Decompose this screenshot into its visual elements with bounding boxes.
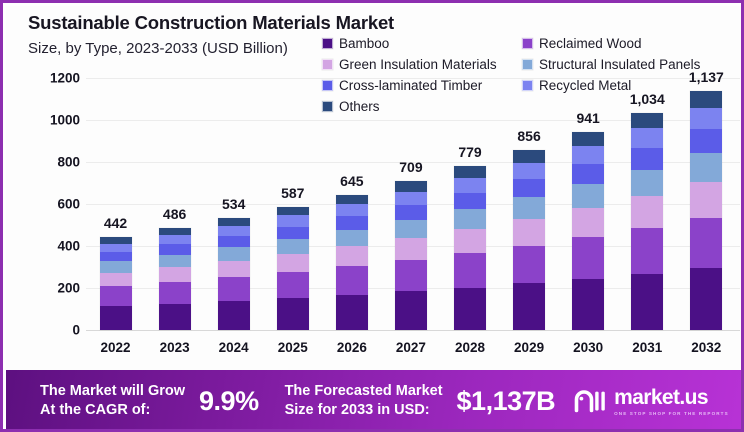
- bar-segment[interactable]: [572, 132, 604, 146]
- x-axis-tick-label: 2032: [679, 340, 733, 355]
- bar-segment[interactable]: [631, 196, 663, 229]
- bar-total-label: 587: [281, 185, 304, 201]
- bar-segment[interactable]: [277, 227, 309, 239]
- bar-stack[interactable]: [572, 132, 604, 330]
- bar-total-label: 941: [576, 110, 599, 126]
- bar-segment[interactable]: [454, 193, 486, 209]
- footer-banner: The Market will Grow At the CAGR of: 9.9…: [6, 370, 744, 432]
- y-axis-tick-label: 600: [28, 197, 80, 212]
- legend-item-label: Structural Insulated Panels: [539, 57, 700, 72]
- x-axis-tick-label: 2027: [384, 340, 438, 355]
- legend-item-green-insulation-materials[interactable]: Green Insulation Materials: [322, 57, 522, 72]
- legend-swatch-icon: [322, 38, 333, 49]
- bar-segment[interactable]: [159, 255, 191, 267]
- bar-group[interactable]: 1,137: [679, 78, 733, 330]
- bar-segment[interactable]: [277, 298, 309, 330]
- gridline: [86, 330, 740, 331]
- bar-group[interactable]: 486: [148, 78, 202, 330]
- bar-segment[interactable]: [631, 113, 663, 129]
- y-axis-tick-label: 200: [28, 281, 80, 296]
- logo-text-wrap: market.us ONE STOP SHOP FOR THE REPORTS: [614, 387, 729, 416]
- bar-segment[interactable]: [395, 291, 427, 330]
- bar-segment[interactable]: [159, 244, 191, 254]
- bar-segment[interactable]: [631, 170, 663, 196]
- cagr-label-block: The Market will Grow At the CAGR of:: [40, 382, 185, 419]
- bar-segment[interactable]: [631, 274, 663, 330]
- legend-item-label: Reclaimed Wood: [539, 36, 642, 51]
- bar-segment[interactable]: [513, 197, 545, 219]
- bar-segment[interactable]: [572, 237, 604, 279]
- bar-segment[interactable]: [395, 238, 427, 260]
- bar-segment[interactable]: [690, 129, 722, 153]
- x-axis-tick-label: 2028: [443, 340, 497, 355]
- bar-segment[interactable]: [336, 266, 368, 294]
- bar-segment[interactable]: [572, 208, 604, 238]
- bar-segment[interactable]: [454, 209, 486, 229]
- bar-group[interactable]: 534: [207, 78, 261, 330]
- legend-swatch-icon: [522, 38, 533, 49]
- bar-segment[interactable]: [159, 267, 191, 282]
- bar-stack[interactable]: [100, 237, 132, 330]
- bar-segment[interactable]: [100, 286, 132, 306]
- bar-segment[interactable]: [100, 306, 132, 330]
- bar-segment[interactable]: [218, 261, 250, 278]
- bar-segment[interactable]: [336, 295, 368, 330]
- bar-stack[interactable]: [454, 166, 486, 330]
- bar-segment[interactable]: [336, 195, 368, 204]
- bar-segment[interactable]: [572, 184, 604, 208]
- bar-segment[interactable]: [690, 91, 722, 108]
- logo-wordmark: market.us: [614, 387, 729, 408]
- legend-item-bamboo[interactable]: Bamboo: [322, 36, 522, 51]
- y-axis-tick-label: 0: [28, 323, 80, 338]
- x-axis-tick-label: 2024: [207, 340, 261, 355]
- bar-group[interactable]: 587: [266, 78, 320, 330]
- bar-segment[interactable]: [395, 260, 427, 291]
- bar-segment[interactable]: [454, 166, 486, 178]
- cagr-label-line1: The Market will Grow: [40, 382, 185, 401]
- bar-total-label: 534: [222, 196, 245, 212]
- bar-segment[interactable]: [218, 226, 250, 236]
- bar-series-container: 4424865345876457097798569411,0341,137: [86, 78, 736, 330]
- bar-stack[interactable]: [690, 91, 722, 330]
- bar-segment[interactable]: [336, 216, 368, 230]
- bar-segment[interactable]: [277, 239, 309, 254]
- bar-group[interactable]: 709: [384, 78, 438, 330]
- bar-segment[interactable]: [572, 146, 604, 164]
- bar-total-label: 486: [163, 206, 186, 222]
- legend-swatch-icon: [522, 59, 533, 70]
- bar-segment[interactable]: [690, 182, 722, 218]
- chart-frame: Sustainable Construction Materials Marke…: [0, 0, 744, 432]
- bar-group[interactable]: 442: [89, 78, 143, 330]
- bar-group[interactable]: 856: [502, 78, 556, 330]
- bar-total-label: 709: [399, 159, 422, 175]
- bar-segment[interactable]: [631, 228, 663, 274]
- bar-segment[interactable]: [159, 282, 191, 303]
- bar-segment[interactable]: [218, 277, 250, 301]
- cagr-value: 9.9%: [199, 386, 259, 417]
- bar-stack[interactable]: [218, 218, 250, 330]
- market-us-logomark-icon: [573, 388, 607, 414]
- bar-segment[interactable]: [631, 128, 663, 148]
- bar-segment[interactable]: [159, 235, 191, 244]
- bar-segment[interactable]: [513, 179, 545, 197]
- chart-card: Sustainable Construction Materials Marke…: [6, 6, 744, 370]
- bar-segment[interactable]: [395, 192, 427, 205]
- bar-segment[interactable]: [454, 178, 486, 193]
- bar-segment[interactable]: [100, 261, 132, 272]
- x-axis-tick-label: 2031: [620, 340, 674, 355]
- forecast-value: $1,137B: [457, 386, 556, 417]
- x-axis: 2022202320242025202620272028202920302031…: [86, 334, 736, 360]
- bar-segment[interactable]: [513, 246, 545, 284]
- market-us-logo[interactable]: market.us ONE STOP SHOP FOR THE REPORTS: [573, 387, 729, 416]
- bar-segment[interactable]: [277, 215, 309, 226]
- legend-item-label: Bamboo: [339, 36, 389, 51]
- y-axis: 020040060080010001200: [28, 78, 80, 330]
- cagr-label-line2: At the CAGR of:: [40, 401, 185, 420]
- x-axis-tick-label: 2026: [325, 340, 379, 355]
- x-axis-tick-label: 2030: [561, 340, 615, 355]
- bar-segment[interactable]: [336, 246, 368, 266]
- x-axis-tick-label: 2022: [89, 340, 143, 355]
- bar-segment[interactable]: [631, 148, 663, 170]
- bar-stack[interactable]: [513, 150, 545, 330]
- bar-total-label: 1,034: [630, 91, 665, 107]
- y-axis-tick-label: 1200: [28, 71, 80, 86]
- bar-segment[interactable]: [395, 181, 427, 191]
- legend-item-label: Green Insulation Materials: [339, 57, 497, 72]
- bar-segment[interactable]: [100, 252, 132, 261]
- bar-group[interactable]: 779: [443, 78, 497, 330]
- bar-total-label: 1,137: [689, 69, 724, 85]
- bar-segment[interactable]: [395, 220, 427, 238]
- bar-segment[interactable]: [690, 108, 722, 129]
- bar-segment[interactable]: [454, 229, 486, 254]
- bar-stack[interactable]: [159, 228, 191, 330]
- y-axis-tick-label: 1000: [28, 113, 80, 128]
- bar-segment[interactable]: [277, 254, 309, 272]
- bar-segment[interactable]: [513, 219, 545, 246]
- bar-segment[interactable]: [159, 304, 191, 330]
- bar-segment[interactable]: [218, 218, 250, 226]
- bar-segment[interactable]: [690, 153, 722, 182]
- bar-total-label: 442: [104, 215, 127, 231]
- bar-segment[interactable]: [100, 273, 132, 287]
- bar-segment[interactable]: [277, 272, 309, 298]
- forecast-label-line2: Size for 2033 in USD:: [285, 401, 443, 420]
- bar-segment[interactable]: [690, 218, 722, 268]
- bar-segment[interactable]: [572, 164, 604, 184]
- bar-total-label: 645: [340, 173, 363, 189]
- bar-stack[interactable]: [336, 195, 368, 330]
- y-axis-tick-label: 800: [28, 155, 80, 170]
- bar-group[interactable]: 645: [325, 78, 379, 330]
- x-axis-tick-label: 2025: [266, 340, 320, 355]
- bar-segment[interactable]: [513, 283, 545, 330]
- bar-segment[interactable]: [454, 253, 486, 287]
- bar-segment[interactable]: [218, 247, 250, 260]
- bar-total-label: 779: [458, 144, 481, 160]
- bar-total-label: 856: [517, 128, 540, 144]
- bar-segment[interactable]: [277, 207, 309, 216]
- legend-swatch-icon: [322, 59, 333, 70]
- bar-segment[interactable]: [100, 244, 132, 252]
- bar-stack[interactable]: [395, 181, 427, 330]
- bar-segment[interactable]: [513, 150, 545, 163]
- bar-segment[interactable]: [218, 236, 250, 247]
- bar-segment[interactable]: [454, 288, 486, 330]
- bar-segment[interactable]: [159, 228, 191, 235]
- forecast-label-block: The Forecasted Market Size for 2033 in U…: [285, 382, 443, 419]
- bar-group[interactable]: 1,034: [620, 78, 674, 330]
- bar-segment[interactable]: [690, 268, 722, 330]
- bar-stack[interactable]: [631, 113, 663, 330]
- x-axis-tick-label: 2023: [148, 340, 202, 355]
- bar-segment[interactable]: [513, 163, 545, 179]
- legend-item-reclaimed-wood[interactable]: Reclaimed Wood: [522, 36, 744, 51]
- logo-tagline: ONE STOP SHOP FOR THE REPORTS: [614, 411, 729, 416]
- bar-segment[interactable]: [336, 204, 368, 216]
- bar-group[interactable]: 941: [561, 78, 615, 330]
- x-axis-tick-label: 2029: [502, 340, 556, 355]
- plot-area: 020040060080010001200 442486534587645709…: [28, 78, 740, 348]
- forecast-label-line1: The Forecasted Market: [285, 382, 443, 401]
- bar-segment[interactable]: [218, 301, 250, 330]
- bar-stack[interactable]: [277, 207, 309, 330]
- y-axis-tick-label: 400: [28, 239, 80, 254]
- bar-segment[interactable]: [395, 205, 427, 220]
- bar-segment[interactable]: [572, 279, 604, 330]
- bar-segment[interactable]: [336, 230, 368, 246]
- chart-title: Sustainable Construction Materials Marke…: [28, 12, 728, 34]
